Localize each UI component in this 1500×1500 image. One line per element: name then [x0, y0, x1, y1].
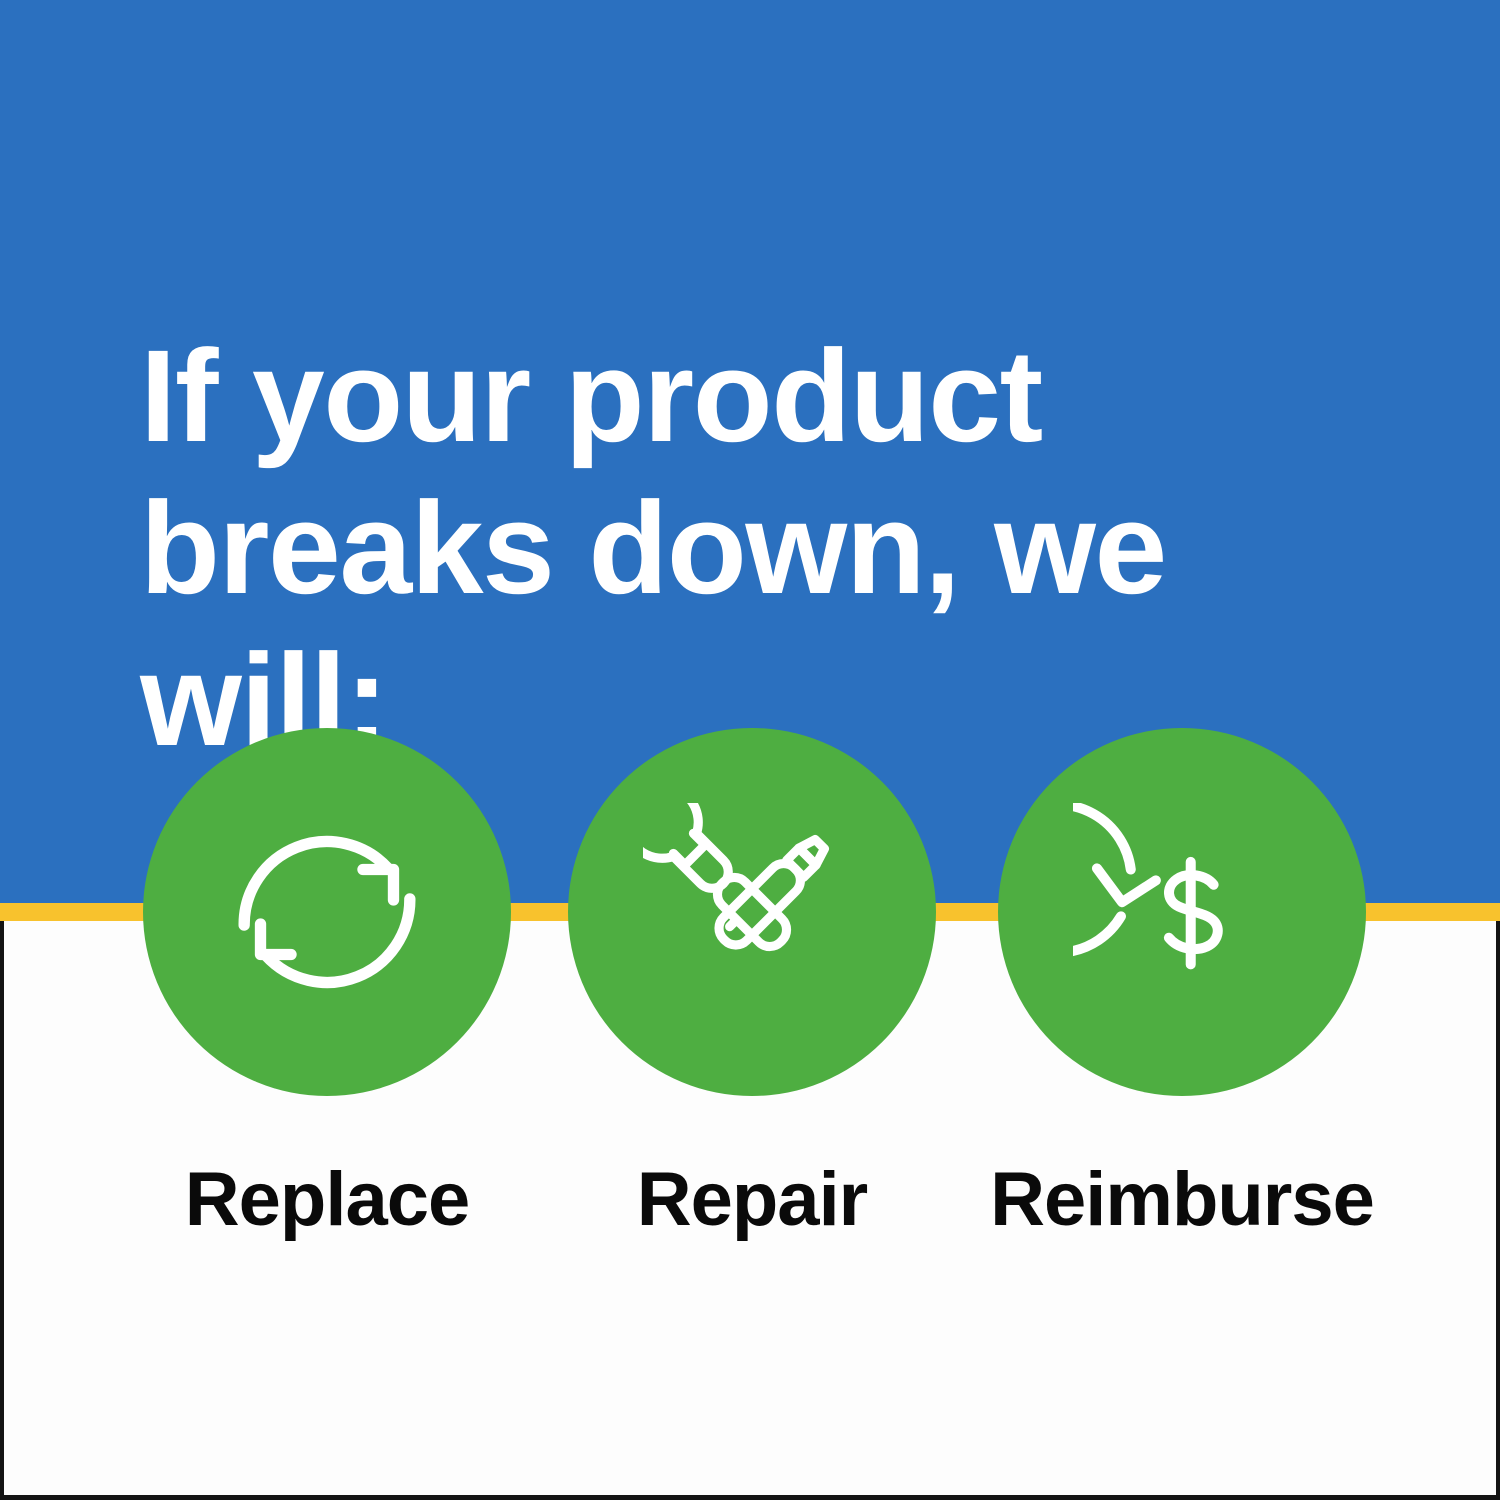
icon-badge-replace: [143, 728, 511, 1096]
dollar-money-back-arrow-icon: [1073, 803, 1291, 1021]
screwdriver-wrench-tools-icon: [643, 803, 861, 1021]
label-reimburse: Reimburse: [972, 1152, 1392, 1248]
promo-poster: If your product breaks down, we will:: [0, 0, 1500, 1500]
refresh-cycle-arrows-icon: [218, 803, 436, 1021]
label-repair: Repair: [542, 1152, 962, 1248]
icon-circles-row: [0, 728, 1500, 1100]
icon-badge-repair: [568, 728, 936, 1096]
icon-labels-row: Replace Repair Reimburse: [0, 1152, 1500, 1248]
label-replace: Replace: [117, 1152, 537, 1248]
icon-badge-reimburse: [998, 728, 1366, 1096]
page-title: If your product breaks down, we will:: [140, 320, 1420, 776]
